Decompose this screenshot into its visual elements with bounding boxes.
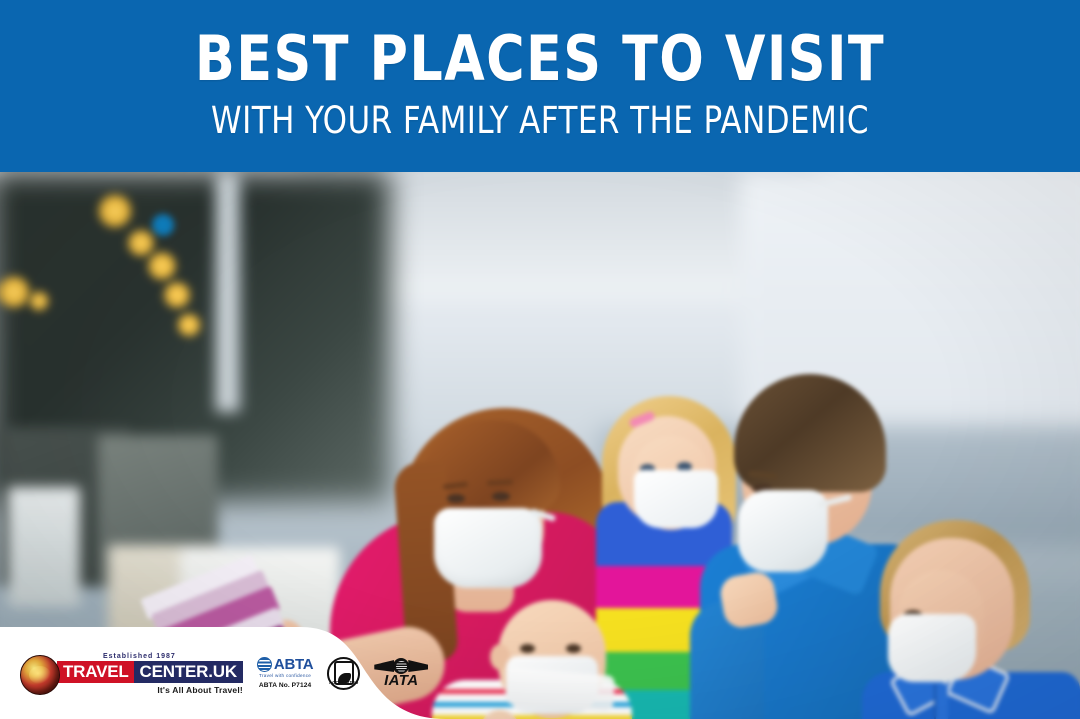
mother-eye-right [492, 492, 510, 501]
bokeh-light [162, 280, 192, 310]
globe-icon [20, 655, 60, 695]
abta-number: ABTA No. P7124 [259, 682, 311, 689]
bokeh-light [28, 290, 50, 312]
footer-logos: Established 1987 TRAVEL CENTER.UK It's A… [0, 627, 420, 719]
established-label: Established 1987 [103, 653, 243, 660]
background-blue-dot [152, 214, 174, 236]
poster: BEST PLACES TO VISIT WITH YOUR FAMILY AF… [0, 0, 1080, 719]
accreditation-badge-icon[interactable]: IATA ACCREDITED [327, 657, 360, 690]
father-face-mask [738, 490, 828, 572]
iata-winged-globe-icon [374, 658, 428, 674]
bokeh-light [146, 250, 178, 282]
page-subtitle: WITH YOUR FAMILY AFTER THE PANDEMIC [38, 102, 1042, 139]
abta-logo[interactable]: ABTA Travel with confidence ABTA No. P71… [257, 657, 313, 689]
iata-wordmark: IATA [384, 673, 418, 688]
abta-strapline: Travel with confidence [259, 673, 311, 679]
wing-right-icon [408, 660, 428, 672]
logo-tagline: It's All About Travel! [57, 685, 243, 695]
mother-face-mask [434, 508, 542, 588]
baby-eye-right [566, 644, 581, 653]
abta-globe-icon [257, 657, 272, 672]
header-banner: BEST PLACES TO VISIT WITH YOUR FAMILY AF… [0, 0, 1080, 172]
travelcenter-logo[interactable]: Established 1987 TRAVEL CENTER.UK It's A… [20, 651, 243, 695]
wing-left-icon [374, 660, 394, 672]
bokeh-light [96, 192, 134, 230]
baby-collar [505, 668, 615, 711]
counter-equipment-white [8, 487, 80, 607]
iata-logo[interactable]: IATA [374, 658, 428, 688]
boy-polo-placket [934, 684, 948, 719]
abta-wordmark: ABTA [274, 657, 313, 672]
page-title: BEST PLACES TO VISIT [32, 28, 1047, 90]
baby-eye-left [520, 644, 535, 653]
logo-word-travel: TRAVEL [57, 661, 134, 683]
logo-word-centeruk: CENTER.UK [134, 661, 243, 683]
bokeh-light [176, 312, 202, 338]
mother-eye-left [447, 494, 465, 503]
badge-bottom-text: ACCREDITED [329, 680, 358, 685]
background-post [215, 172, 241, 412]
boy-face-mask [888, 614, 976, 682]
toddler-face-mask [634, 470, 718, 528]
